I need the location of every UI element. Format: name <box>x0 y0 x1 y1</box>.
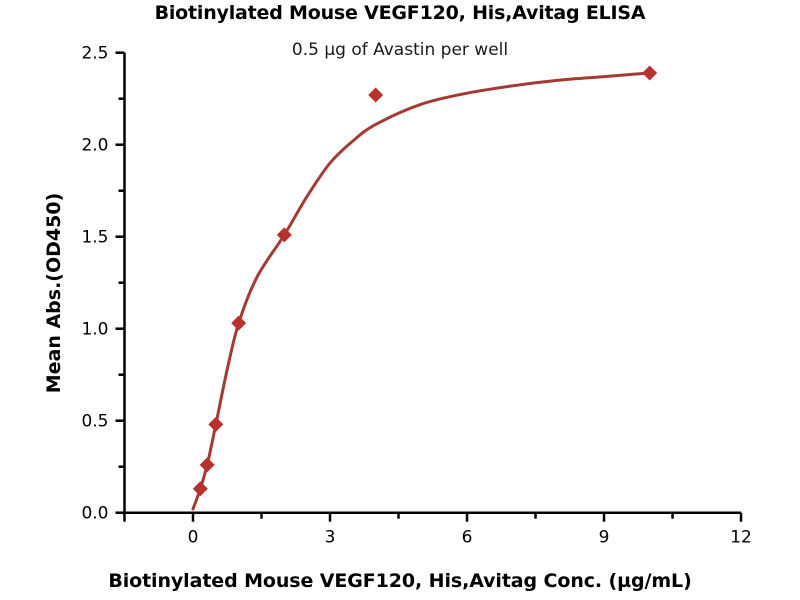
data-point-marker <box>231 316 246 331</box>
chart-figure: Biotinylated Mouse VEGF120, His,Avitag E… <box>0 0 800 600</box>
data-point-marker <box>200 457 215 472</box>
y-axis: 0.00.51.01.52.02.5 <box>81 44 124 524</box>
y-axis-tick-label: 0.5 <box>81 412 108 432</box>
data-point-marker <box>642 65 657 80</box>
y-axis-tick-labels: 0.00.51.01.52.02.5 <box>81 44 108 524</box>
plot-area: 0.00.51.01.52.02.5 036912 <box>0 0 800 600</box>
x-axis-major-ticks <box>193 513 741 522</box>
y-axis-tick-label: 2.5 <box>81 44 108 64</box>
data-point-marker <box>208 417 223 432</box>
y-axis-tick-label: 2.0 <box>81 136 108 156</box>
data-point-marker <box>193 481 208 496</box>
x-axis-minor-ticks <box>124 513 672 522</box>
y-axis-tick-label: 1.0 <box>81 320 108 340</box>
fit-curve <box>193 73 650 509</box>
x-axis-tick-label: 9 <box>599 528 610 548</box>
x-axis-tick-labels: 036912 <box>188 528 752 548</box>
y-axis-tick-label: 0.0 <box>81 504 108 524</box>
x-axis-tick-label: 0 <box>188 528 199 548</box>
data-point-marker <box>368 88 383 103</box>
x-axis: 036912 <box>124 513 751 548</box>
data-point-markers <box>193 65 657 496</box>
x-axis-tick-label: 6 <box>462 528 473 548</box>
data-point-marker <box>277 227 292 242</box>
x-axis-tick-label: 3 <box>325 528 336 548</box>
y-axis-tick-label: 1.5 <box>81 228 108 248</box>
x-axis-tick-label: 12 <box>730 528 752 548</box>
